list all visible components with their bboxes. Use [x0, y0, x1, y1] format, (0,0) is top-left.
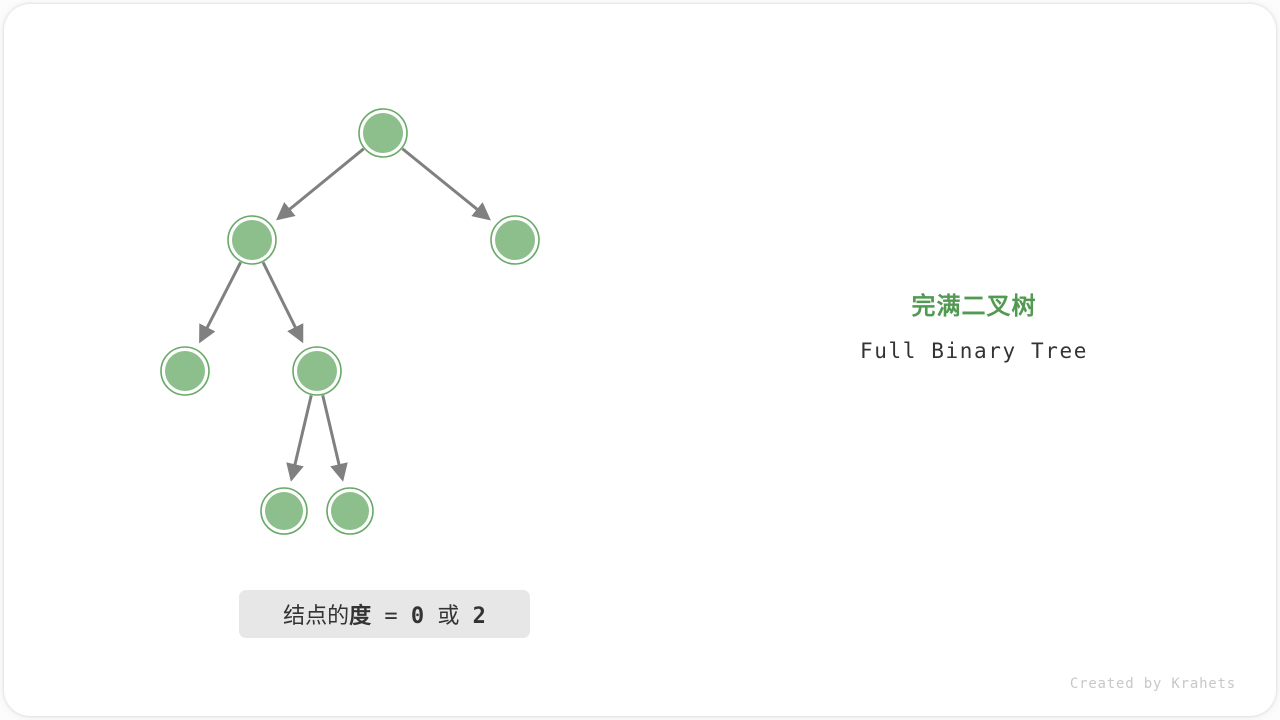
- tree-node-layer: [161, 109, 539, 534]
- caption-block: 完满二叉树 Full Binary Tree: [704, 294, 1244, 363]
- degree-label-pill: 结点的度 = 0 或 2: [239, 590, 530, 638]
- tree-node-fill-n-lrl: [265, 492, 303, 530]
- tree-edge-root-to-n-r: [402, 149, 488, 219]
- tree-edge-n-lr-to-n-lrr: [323, 395, 343, 479]
- degree-label-segment-2: =: [371, 604, 411, 629]
- tree-node-n-lrr: [327, 488, 373, 534]
- tree-edge-n-l-to-n-ll: [200, 262, 240, 340]
- tree-node-n-r: [491, 216, 539, 264]
- degree-label-segment-0: 结点的: [283, 604, 349, 629]
- caption-subtitle: Full Binary Tree: [704, 339, 1244, 363]
- tree-node-fill-n-ll: [165, 351, 205, 391]
- tree-node-root: [359, 109, 407, 157]
- tree-node-fill-n-l: [232, 220, 272, 260]
- tree-node-fill-n-lr: [297, 351, 337, 391]
- tree-edge-layer: [200, 149, 488, 479]
- tree-node-fill-n-lrr: [331, 492, 369, 530]
- tree-edge-root-to-n-l: [278, 149, 363, 219]
- credit-text: Created by Krahets: [1070, 676, 1236, 692]
- tree-node-n-l: [228, 216, 276, 264]
- degree-label-segment-5: 2: [473, 604, 486, 629]
- caption-title: 完满二叉树: [704, 294, 1244, 320]
- tree-edge-n-l-to-n-lr: [263, 262, 302, 340]
- screenshot-canvas: 完满二叉树 Full Binary Tree 结点的度 = 0 或 2 Crea…: [0, 0, 1280, 720]
- tree-node-n-lr: [293, 347, 341, 395]
- degree-label-segment-3: 0: [411, 604, 424, 629]
- degree-label-segment-4: 或: [424, 604, 473, 629]
- tree-node-fill-root: [363, 113, 403, 153]
- tree-node-n-lrl: [261, 488, 307, 534]
- tree-node-fill-n-r: [495, 220, 535, 260]
- degree-label-text: 结点的度 = 0 或 2: [283, 598, 486, 630]
- tree-edge-n-lr-to-n-lrl: [292, 395, 312, 479]
- degree-label-segment-1: 度: [349, 604, 371, 629]
- illustration-card: 完满二叉树 Full Binary Tree 结点的度 = 0 或 2 Crea…: [4, 4, 1276, 716]
- tree-node-n-ll: [161, 347, 209, 395]
